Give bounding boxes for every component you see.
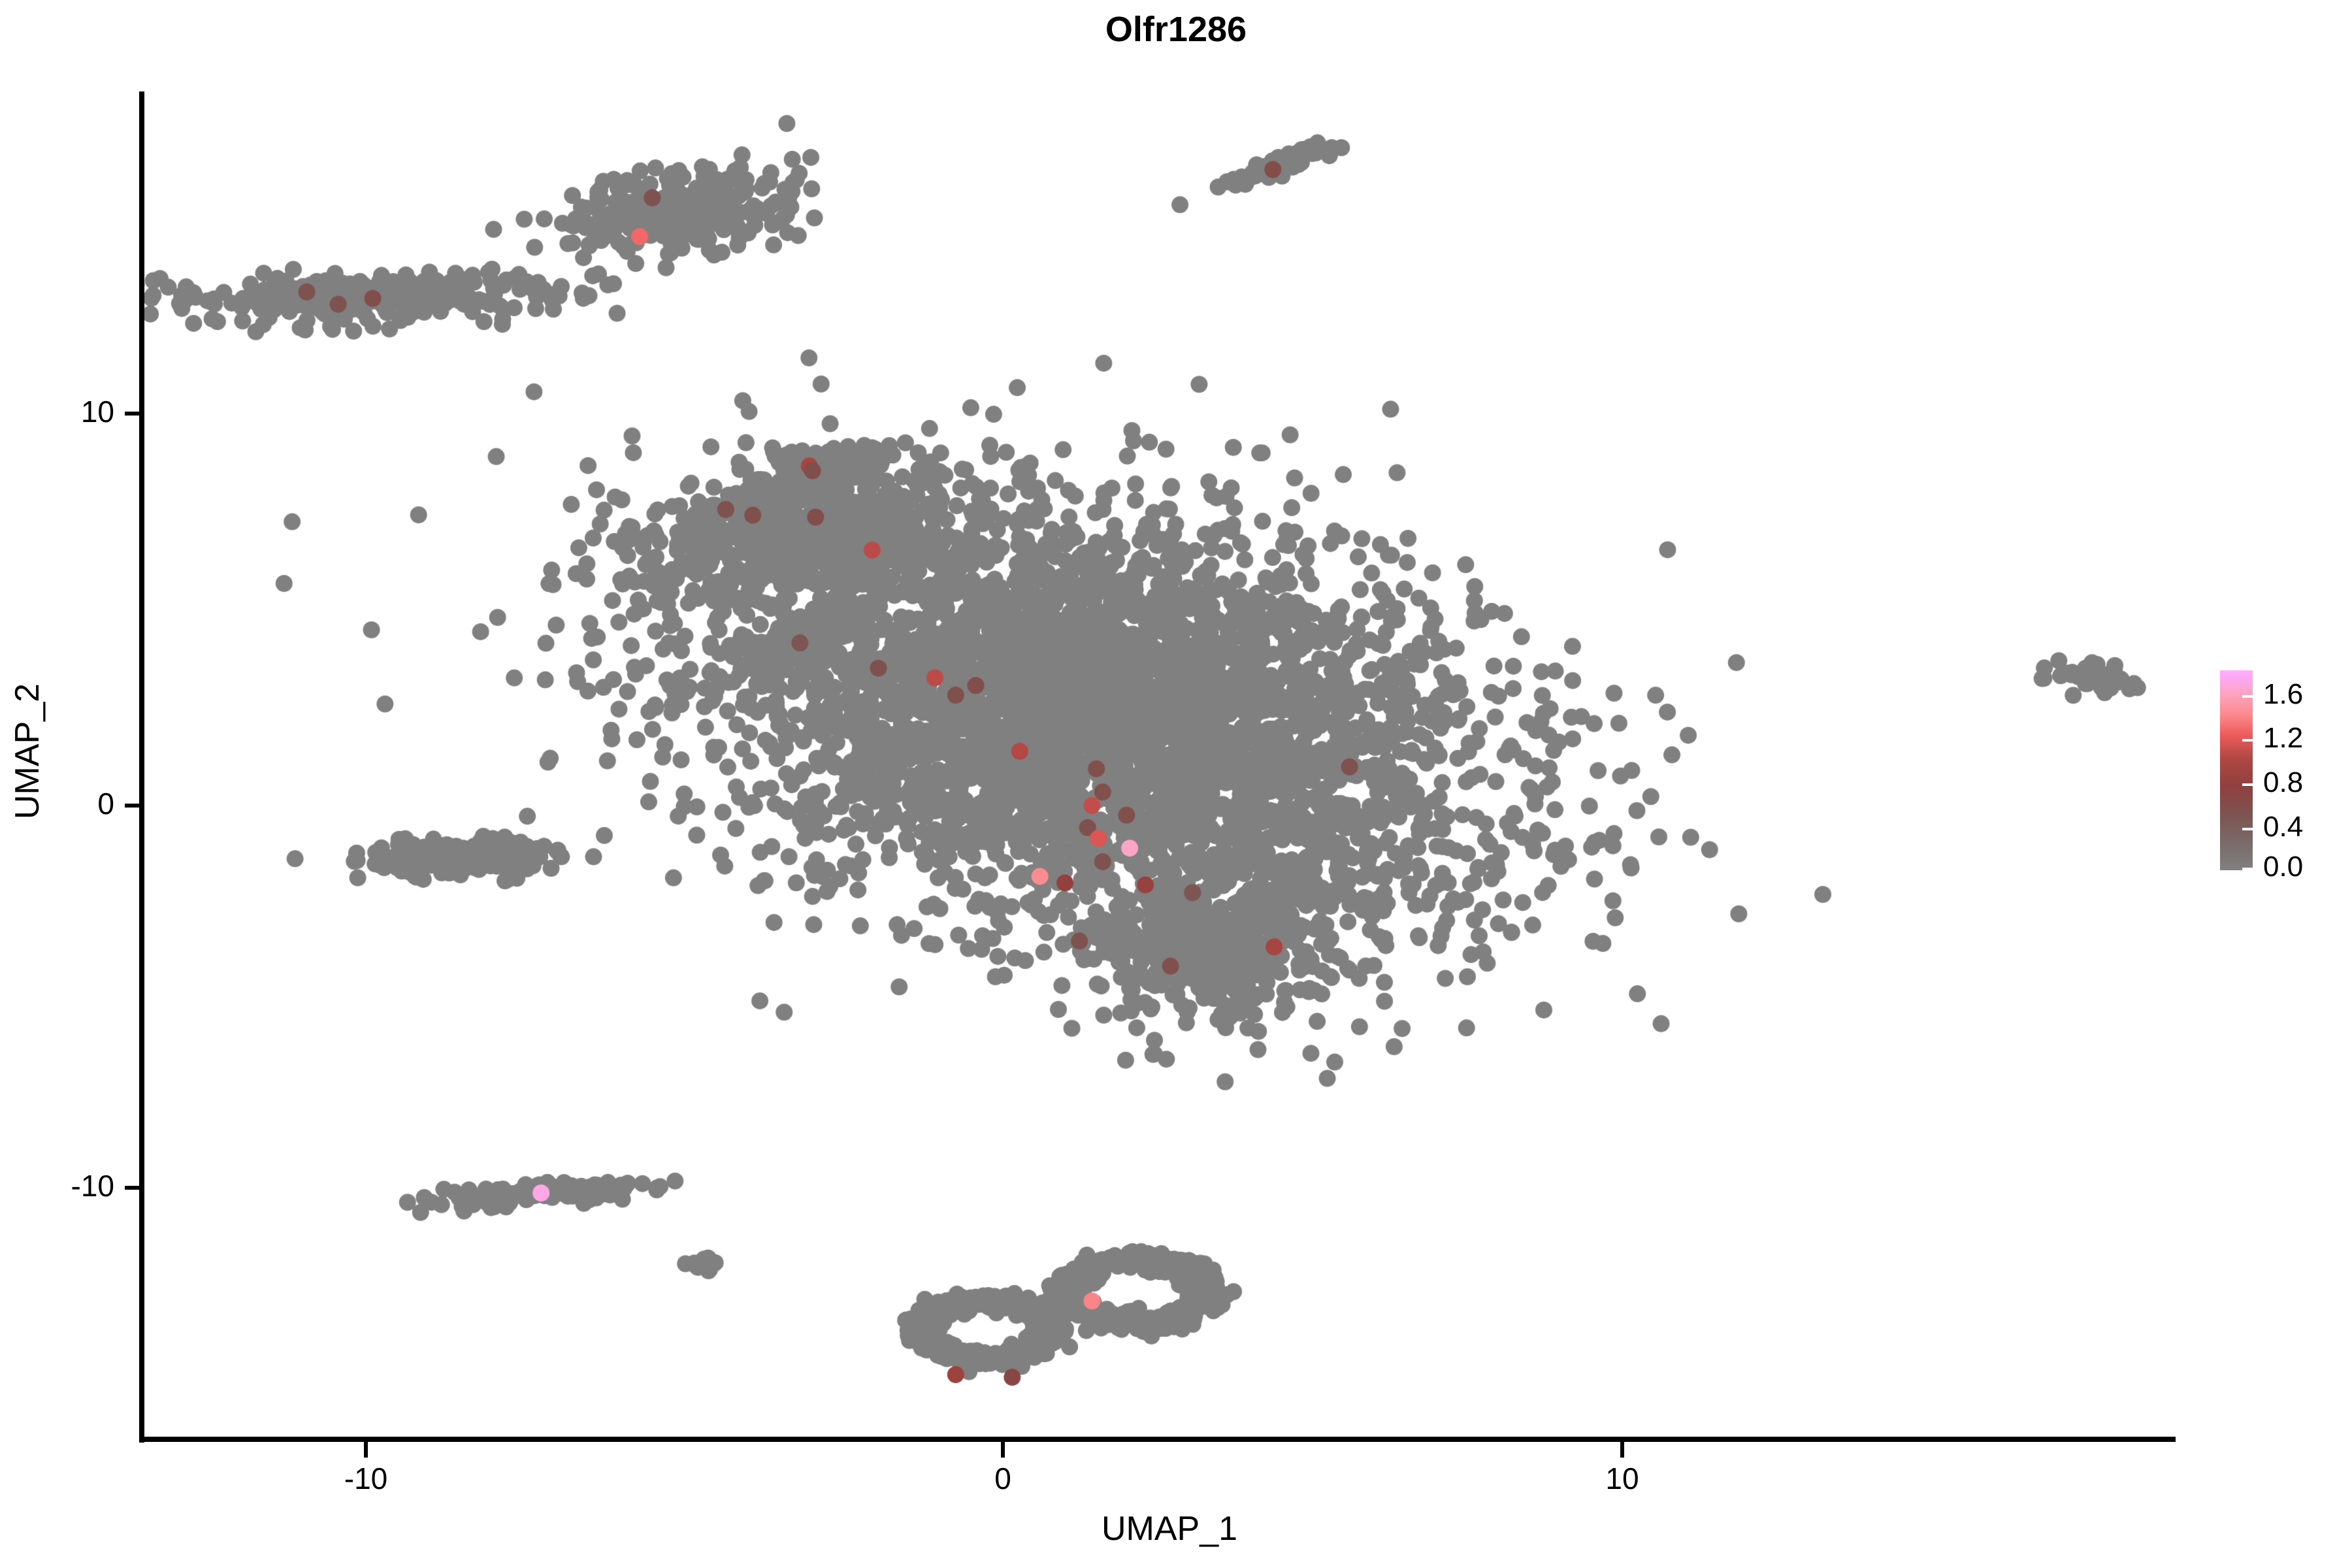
x-tick-label-minus10: -10 (287, 1463, 444, 1494)
scatter-points-layer (144, 91, 2176, 1439)
y-tick-mark-minus10 (125, 1186, 139, 1190)
legend-tick-mark-1-2 (2242, 739, 2254, 742)
x-axis-title: UMAP_1 (1026, 1509, 1313, 1548)
y-axis-title: UMAP_2 (8, 555, 47, 947)
x-tick-mark-0 (1001, 1442, 1005, 1458)
page-title: Olfr1286 (0, 9, 2352, 50)
legend-label-1-2: 1.2 (2263, 724, 2303, 753)
legend-label-0-8: 0.8 (2263, 768, 2303, 797)
legend-label-0-4: 0.4 (2263, 813, 2303, 841)
y-tick-label-minus10: -10 (0, 1171, 114, 1201)
x-tick-mark-minus10 (364, 1442, 368, 1458)
color-legend-gradient-bar (2220, 670, 2253, 870)
y-tick-mark-10 (125, 412, 139, 416)
y-tick-label-10: 10 (0, 397, 114, 427)
color-legend: 1.6 1.2 0.8 0.4 0.0 (2220, 670, 2344, 873)
umap-feature-plot: Olfr1286 10 0 -10 -10 0 10 UMAP_1 UMAP_2… (0, 0, 2352, 1568)
legend-tick-mark-1-6 (2242, 695, 2254, 698)
x-tick-label-0: 0 (924, 1463, 1081, 1494)
y-tick-mark-0 (125, 804, 139, 808)
legend-tick-mark-0-8 (2242, 783, 2254, 786)
legend-label-0-0: 0.0 (2263, 853, 2303, 881)
x-tick-label-10: 10 (1544, 1463, 1701, 1494)
x-tick-mark-10 (1620, 1442, 1624, 1458)
y-axis-line (139, 91, 144, 1443)
legend-label-1-6: 1.6 (2263, 680, 2303, 709)
legend-tick-mark-0-4 (2242, 828, 2254, 830)
x-axis-line (139, 1437, 2176, 1442)
legend-tick-mark-0-0 (2242, 868, 2254, 870)
scatter-plot-panel (144, 91, 2176, 1439)
